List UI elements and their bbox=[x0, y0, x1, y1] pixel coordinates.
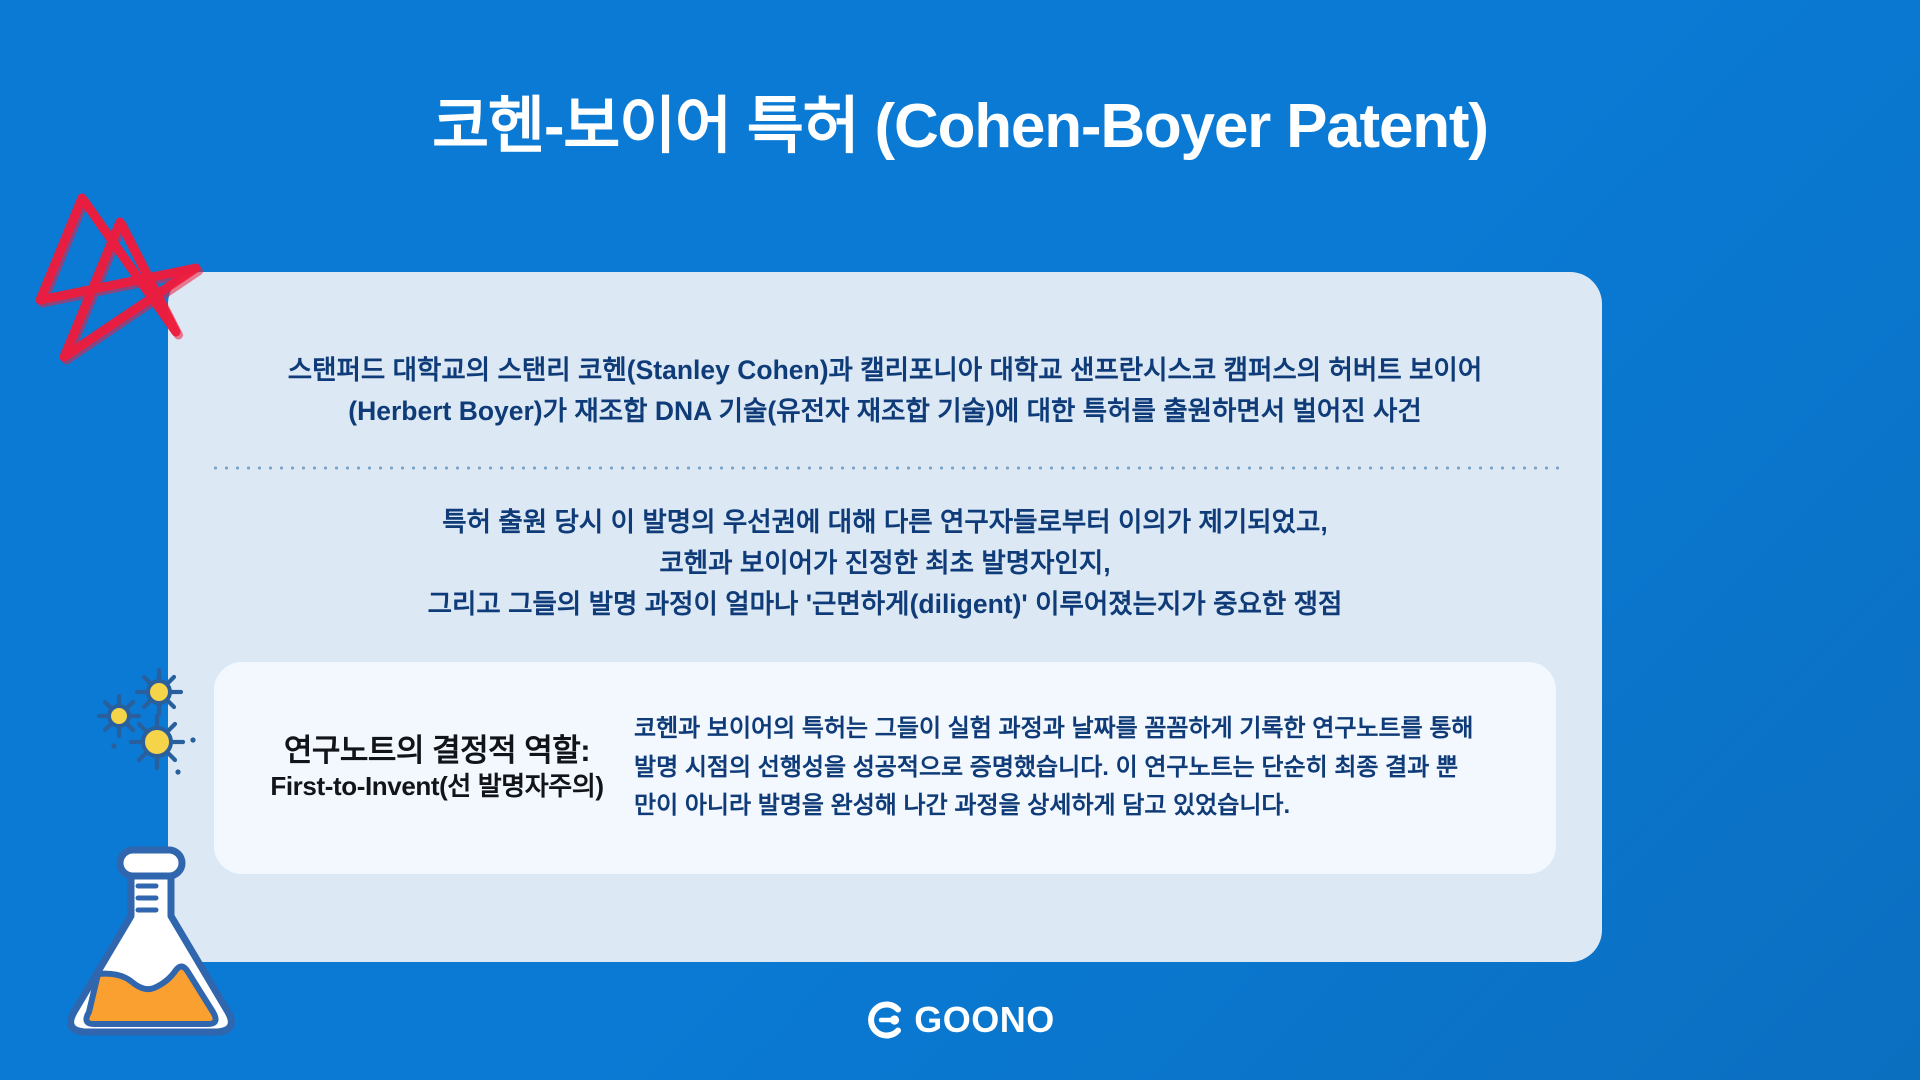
research-note-heading-line1: 연구노트의 결정적 역할: bbox=[240, 732, 634, 771]
goono-wordmark: GOONO bbox=[914, 1002, 1055, 1038]
red-star-icon bbox=[24, 182, 210, 372]
paragraph-intro-line1: 스탠퍼드 대학교의 스탠리 코헨(Stanley Cohen)과 캘리포니아 대… bbox=[208, 350, 1562, 391]
research-note-body-line1: 코헨과 보이어의 특허는 그들이 실험 과정과 날짜를 꼼꼼하게 기록한 연구노… bbox=[634, 710, 1508, 749]
paragraph-intro-line2-bold: 재조합 DNA 기술(유전자 재조합 기술) bbox=[574, 396, 994, 426]
erlenmeyer-flask-icon bbox=[58, 840, 244, 1046]
goono-mark-icon bbox=[865, 1000, 905, 1040]
paragraph-issues-line1: 특허 출원 당시 이 발명의 우선권에 대해 다른 연구자들로부터 이의가 제기… bbox=[208, 502, 1562, 543]
paragraph-intro-line2: (Herbert Boyer)가 재조합 DNA 기술(유전자 재조합 기술)에… bbox=[208, 391, 1562, 432]
research-note-heading-line2: First-to-Invent(선 발명자주의) bbox=[240, 770, 634, 804]
content-panel: 스탠퍼드 대학교의 스탠리 코헨(Stanley Cohen)과 캘리포니아 대… bbox=[168, 272, 1602, 962]
dotted-divider bbox=[210, 466, 1560, 470]
goono-logo: GOONO bbox=[0, 1000, 1920, 1040]
research-note-body-line2: 발명 시점의 선행성을 성공적으로 증명했습니다. 이 연구노트는 단순히 최종… bbox=[634, 749, 1508, 788]
page-title: 코헨-보이어 특허 (Cohen-Boyer Patent) bbox=[0, 94, 1920, 159]
paragraph-issues-line2: 코헨과 보이어가 진정한 최초 발명자인지, bbox=[208, 543, 1562, 584]
research-note-card: 연구노트의 결정적 역할: First-to-Invent(선 발명자주의) 코… bbox=[214, 662, 1556, 874]
research-note-body-line3: 만이 아니라 발명을 완성해 나간 과정을 상세하게 담고 있었습니다. bbox=[634, 787, 1508, 826]
paragraph-issues-line3: 그리고 그들의 발명 과정이 얼마나 '근면하게(diligent)' 이루어졌… bbox=[208, 584, 1562, 625]
paragraph-intro-line2-suffix: 에 대한 특허를 출원하면서 벌어진 사건 bbox=[995, 396, 1422, 426]
research-note-body: 코헨과 보이어의 특허는 그들이 실험 과정과 날짜를 꼼꼼하게 기록한 연구노… bbox=[634, 710, 1556, 827]
paragraph-intro-line2-prefix: (Herbert Boyer)가 bbox=[348, 396, 574, 426]
research-note-heading: 연구노트의 결정적 역할: First-to-Invent(선 발명자주의) bbox=[214, 732, 634, 805]
paragraph-intro: 스탠퍼드 대학교의 스탠리 코헨(Stanley Cohen)과 캘리포니아 대… bbox=[208, 350, 1562, 432]
molecule-cluster-icon bbox=[78, 664, 202, 780]
paragraph-issues: 특허 출원 당시 이 발명의 우선권에 대해 다른 연구자들로부터 이의가 제기… bbox=[208, 502, 1562, 625]
